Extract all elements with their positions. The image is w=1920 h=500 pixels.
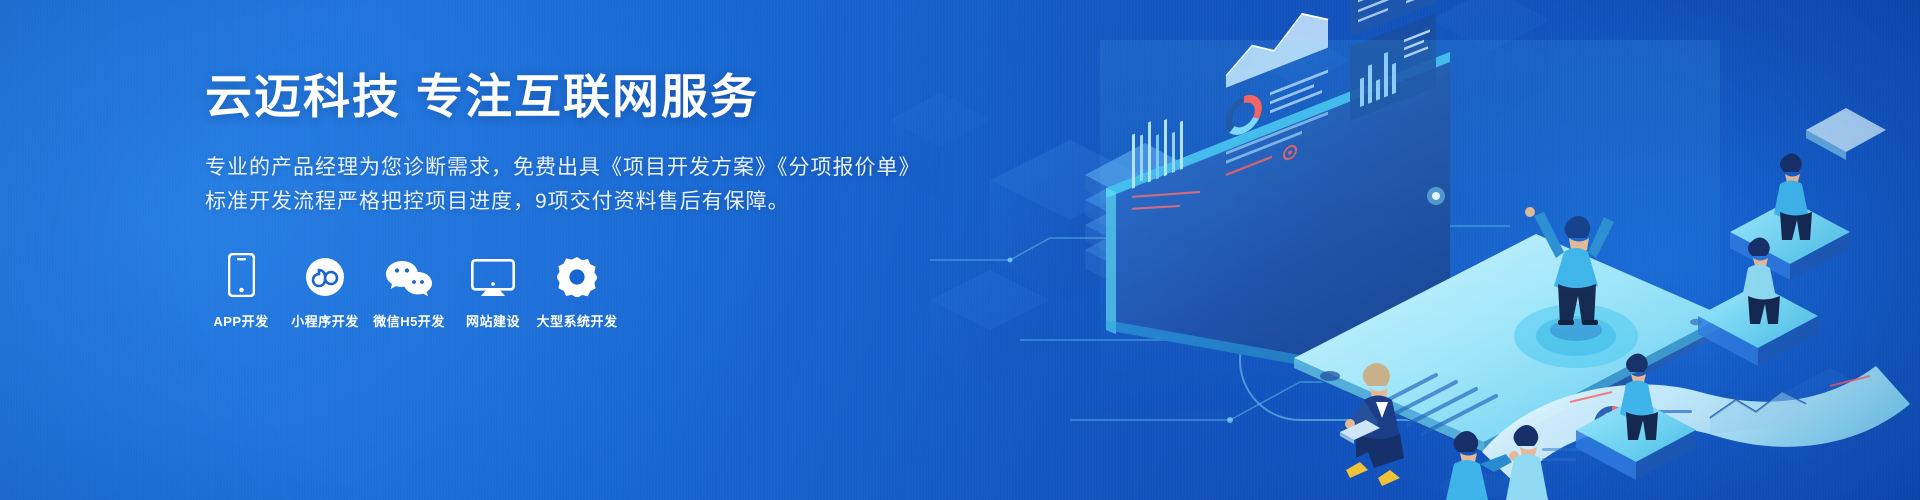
service-item-mini-program[interactable]: 小程序开发: [289, 253, 361, 330]
sitting-figure-legs: [1356, 434, 1404, 468]
sitting-figure-shoe: [1346, 462, 1368, 478]
service-item-website[interactable]: 网站建设: [457, 253, 529, 330]
mini-program-icon: [305, 253, 345, 297]
service-item-app[interactable]: APP开发: [205, 253, 277, 330]
monitor-icon: [471, 253, 515, 297]
banner-content: 云迈科技 专注互联网服务 专业的产品经理为您诊断需求，免费出具《项目开发方案》《…: [205, 70, 905, 330]
floating-card: [1806, 108, 1886, 152]
ambient-glow: [1100, 40, 1720, 420]
wechat-icon: [386, 253, 432, 297]
service-label-mini-program: 小程序开发: [291, 311, 359, 330]
isometric-tech-illustration: [870, 0, 1920, 500]
mobile-phone-icon: [228, 253, 255, 297]
service-label-app: APP开发: [213, 311, 268, 330]
promotional-banner: 云迈科技 专注互联网服务 专业的产品经理为您诊断需求，免费出具《项目开发方案》《…: [0, 0, 1920, 500]
service-label-large-system: 大型系统开发: [537, 311, 618, 330]
service-label-wechat: 微信H5开发: [373, 311, 445, 330]
service-item-large-system[interactable]: 大型系统开发: [541, 253, 613, 330]
service-label-website: 网站建设: [466, 311, 520, 330]
service-icon-list: APP开发 小程序开发: [205, 253, 905, 330]
banner-headline: 云迈科技 专注互联网服务: [205, 70, 905, 125]
service-item-wechat[interactable]: 微信H5开发: [373, 253, 445, 330]
gear-icon: [557, 253, 597, 297]
banner-subtitle-line-1: 专业的产品经理为您诊断需求，免费出具《项目开发方案》《分项报价单》: [205, 151, 905, 185]
banner-subtitle-line-2: 标准开发流程严格把控项目进度，9项交付资料售后有保障。: [205, 185, 905, 219]
